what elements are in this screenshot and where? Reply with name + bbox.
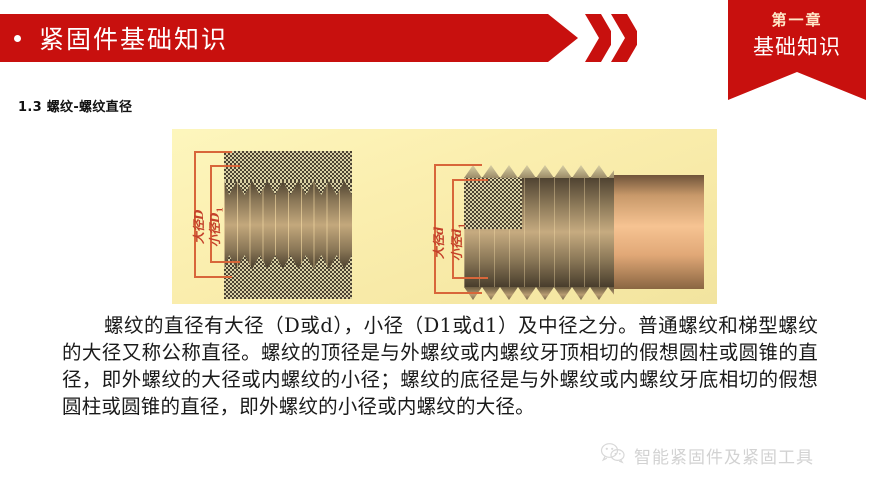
internal-thread-illustration [224,151,352,299]
section-subtitle: 1.3 螺纹-螺纹直径 [18,96,132,115]
bolt-thread-teeth-bottom [464,287,614,300]
minor-diameter-tick-top [452,179,488,181]
body-paragraph: 螺纹的直径有大径（D或d），小径（D1或d1）及中径之分。普通螺纹和梯型螺纹的大… [62,312,818,420]
page-title: 紧固件基础知识 [39,20,228,56]
external-thread-illustration [464,177,704,287]
chapter-name: 基础知识 [728,36,866,59]
major-diameter-tick-top [194,151,232,153]
minor-diameter-label: 小径d1 [448,223,466,261]
wechat-icon [600,442,626,468]
watermark-text: 智能紧固件及紧固工具 [634,443,814,468]
chapter-badge: 第一章 基础知识 [728,0,866,100]
major-diameter-tick-bottom [434,292,482,294]
nut-bore-surface [224,181,352,269]
minor-diameter-label: 小径D1 [206,207,224,247]
header-banner: 紧固件基础知识 [0,14,578,62]
thread-diameter-diagram: 大径D 小径D1 大径d 小径d1 [172,129,717,304]
chevron-right-icon [585,14,611,62]
bolt-cut-section-hatch [464,177,522,229]
major-diameter-label: 大径d [430,227,447,259]
major-diameter-tick-top [434,164,482,166]
chapter-kicker: 第一章 [728,12,866,29]
major-diameter-tick-bottom [194,276,232,278]
watermark: 智能紧固件及紧固工具 [600,442,814,468]
minor-diameter-tick-top [210,165,240,167]
major-diameter-label: 大径D [190,210,207,244]
bolt-plain-cylinder [614,175,704,289]
minor-diameter-tick-bottom [210,261,240,263]
minor-diameter-tick-bottom [452,277,488,279]
chevron-right-icon [611,14,637,62]
bolt-thread-teeth-top [464,165,614,178]
bullet-dot-icon [14,35,21,42]
